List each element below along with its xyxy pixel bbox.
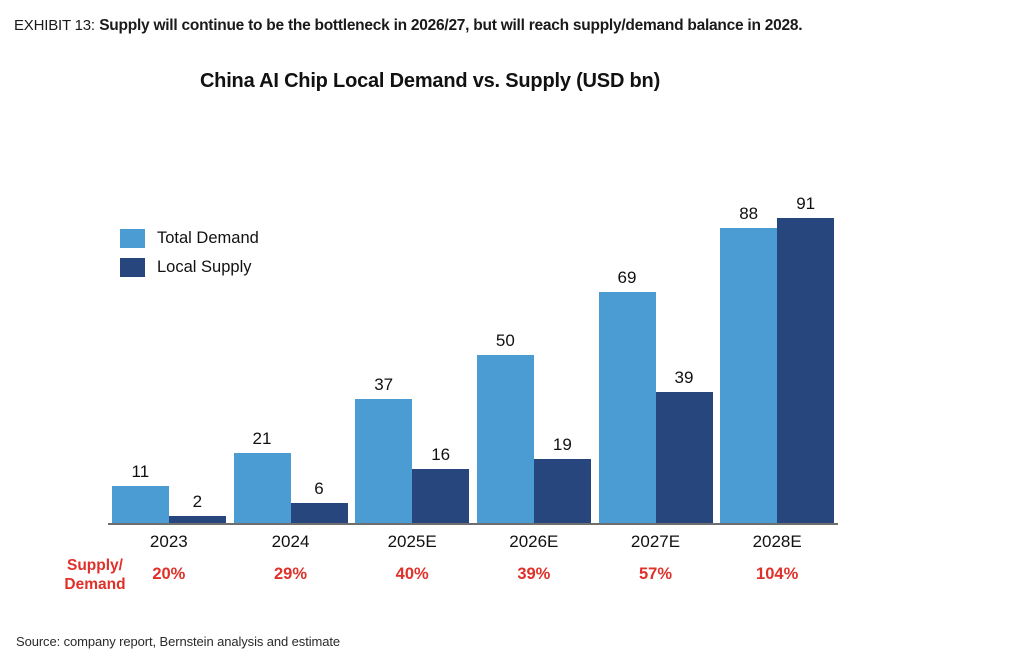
legend-swatch-total-demand-icon (120, 229, 145, 248)
bar-value-label-total-demand-2026E: 50 (467, 331, 544, 350)
source-note: Source: company report, Bernstein analys… (16, 634, 340, 649)
bar-value-label-local-supply-2023: 2 (159, 492, 236, 511)
bar-value-label-local-supply-2028E: 91 (767, 194, 844, 213)
chart-legend: Total Demand Local Supply (120, 224, 259, 282)
bar-local-supply-2027E (656, 392, 713, 523)
x-axis-label-2023: 2023 (109, 532, 229, 552)
x-axis-label-2024: 2024 (231, 532, 351, 552)
supply-demand-row-label: Supply/ Demand (46, 556, 144, 594)
x-axis-label-2026E: 2026E (474, 532, 594, 552)
supply-demand-row-label-line2: Demand (46, 575, 144, 594)
bar-local-supply-2024 (291, 503, 348, 523)
bar-value-label-total-demand-2027E: 69 (589, 268, 666, 287)
bar-local-supply-2026E (534, 459, 591, 523)
supply-demand-ratio-2028E: 104% (717, 565, 837, 584)
x-axis-label-2028E: 2028E (717, 532, 837, 552)
bar-total-demand-2028E (720, 228, 777, 523)
bar-value-label-total-demand-2025E: 37 (345, 375, 422, 394)
supply-demand-ratio-2024: 29% (231, 565, 351, 584)
supply-demand-ratio-2027E: 57% (596, 565, 716, 584)
supply-demand-ratio-2025E: 40% (352, 565, 472, 584)
bar-value-label-total-demand-2024: 21 (224, 429, 301, 448)
bar-local-supply-2023 (169, 516, 226, 523)
supply-demand-ratio-2026E: 39% (474, 565, 594, 584)
legend-label-local-supply: Local Supply (157, 258, 251, 277)
x-axis-line (108, 523, 838, 525)
legend-swatch-local-supply-icon (120, 258, 145, 277)
legend-label-total-demand: Total Demand (157, 229, 259, 248)
bar-local-supply-2028E (777, 218, 834, 523)
x-axis-label-2027E: 2027E (596, 532, 716, 552)
bar-value-label-local-supply-2024: 6 (281, 479, 358, 498)
bar-local-supply-2025E (412, 469, 469, 523)
bar-total-demand-2027E (599, 292, 656, 523)
chart-plot-area: 112202320%216202429%37162025E40%50192026… (0, 0, 1025, 671)
bar-value-label-local-supply-2026E: 19 (524, 435, 601, 454)
bar-value-label-total-demand-2023: 11 (102, 462, 179, 481)
legend-item-local-supply: Local Supply (120, 253, 259, 282)
legend-item-total-demand: Total Demand (120, 224, 259, 253)
bar-value-label-local-supply-2027E: 39 (646, 368, 723, 387)
supply-demand-row-label-line1: Supply/ (46, 556, 144, 575)
x-axis-label-2025E: 2025E (352, 532, 472, 552)
bar-value-label-local-supply-2025E: 16 (402, 445, 479, 464)
